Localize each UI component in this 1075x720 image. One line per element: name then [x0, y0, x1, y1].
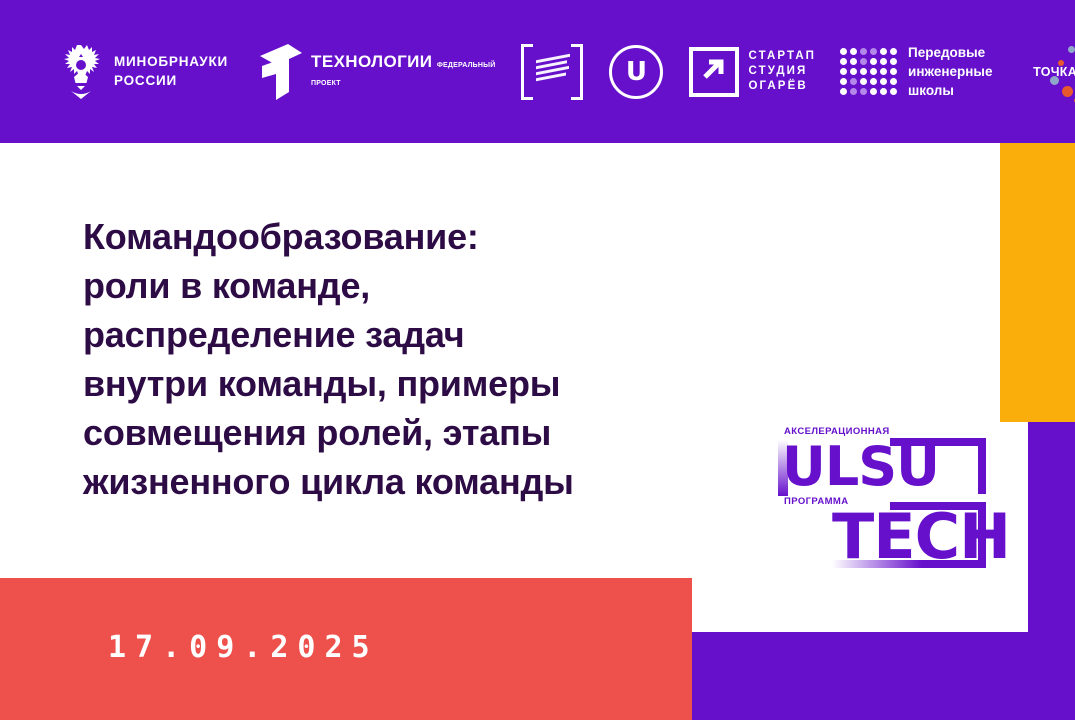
ulsu-wordmark: ULSU	[782, 440, 939, 494]
presentation-slide: МИНОБРНАУКИ РОССИИ ТЕХНОЛОГИИ ФЕДЕРАЛЬНЫ…	[0, 0, 1075, 720]
logo-tehnologii: ТЕХНОЛОГИИ ФЕДЕРАЛЬНЫЙ ПРОЕКТ	[258, 44, 495, 100]
logo-ulsu-tech: АКСЕЛЕРАЦИОННАЯ ПРОГРАММА ULSU TECH	[772, 424, 1004, 576]
logo-peredovye-inzhenernye-shkoly: Передовые инженерные школы	[840, 43, 992, 100]
ulsu-bar-right-upper	[978, 438, 986, 494]
tech-arrow-icon	[258, 44, 304, 100]
logo-brackets	[521, 44, 583, 100]
header-logo-strip: МИНОБРНАУКИ РОССИИ ТЕХНОЛОГИИ ФЕДЕРАЛЬНЫ…	[0, 0, 1075, 143]
bracket-lines-icon	[521, 44, 583, 100]
logo-tochka-kipeniya: ТОЧКА КИПЕНИЯ	[1022, 36, 1075, 108]
slide-title: Командообразование: роли в команде, расп…	[83, 212, 723, 506]
logo-u-circle: U	[609, 45, 663, 99]
background-orange-block	[1000, 143, 1075, 422]
logo-minobrnauki-label: МИНОБРНАУКИ РОССИИ	[114, 53, 228, 89]
logo-tochka-kipeniya-label: ТОЧКА КИПЕНИЯ	[1022, 65, 1075, 79]
u-circle-icon: U	[609, 45, 663, 99]
arrow-square-icon	[689, 47, 739, 97]
slide-date: 17.09.2025	[108, 630, 379, 665]
tech-wordmark: TECH	[832, 506, 1010, 568]
logo-startup-studio-ogarev: СТАРТАП СТУДИЯ ОГАРЁВ	[689, 47, 816, 97]
boiling-point-dots-icon: ТОЧКА КИПЕНИЯ	[1022, 36, 1075, 108]
double-headed-eagle-icon	[58, 43, 104, 101]
logo-tehnologii-text: ТЕХНОЛОГИИ ФЕДЕРАЛЬНЫЙ ПРОЕКТ	[311, 53, 495, 90]
logo-pish-label: Передовые инженерные школы	[908, 43, 992, 100]
logo-tehnologii-line1: ТЕХНОЛОГИИ	[311, 52, 432, 71]
logo-minobrnauki: МИНОБРНАУКИ РОССИИ	[58, 43, 228, 101]
dot-grid-icon	[840, 48, 897, 95]
bracket-inner-lines	[536, 53, 570, 90]
logo-startup-studio-label: СТАРТАП СТУДИЯ ОГАРЁВ	[748, 49, 816, 93]
